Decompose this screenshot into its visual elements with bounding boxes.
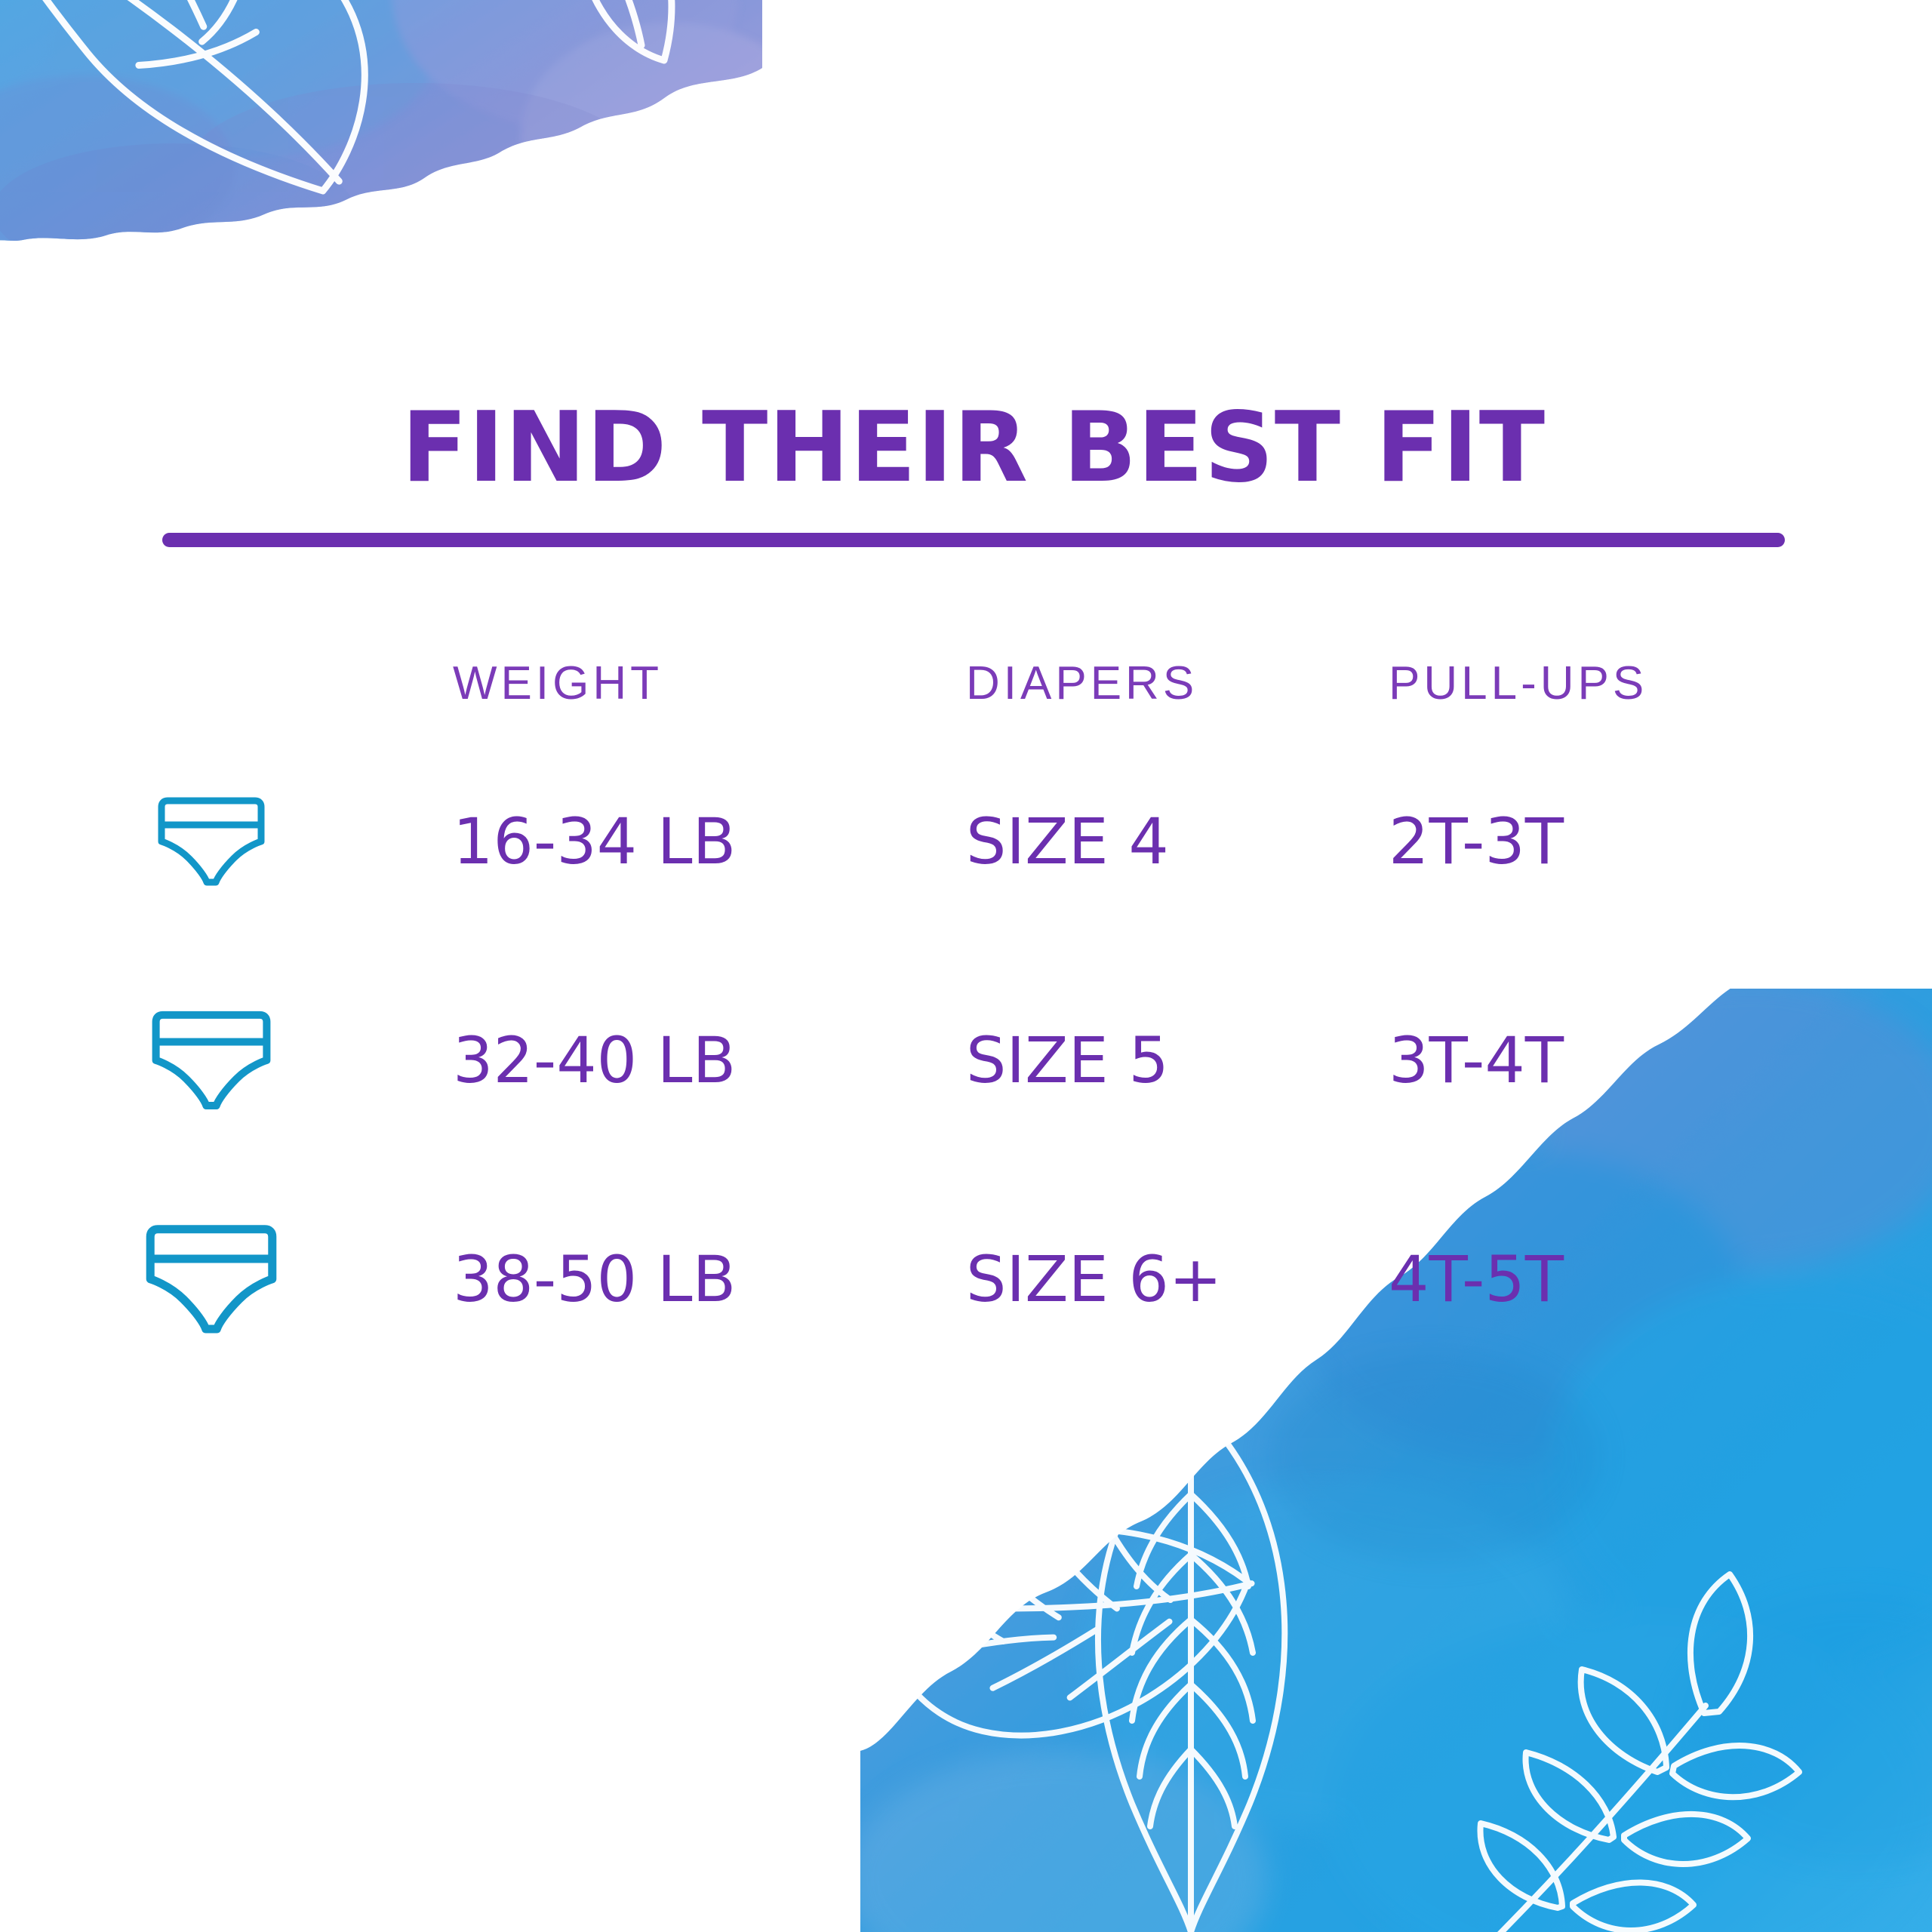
sizing-table: WEIGHT DIAPERS PULL-UPS 16-34 LB	[0, 634, 1932, 1389]
table-row: 16-34 LB SIZE 4 2T-3T	[0, 732, 1932, 951]
page-title: FIND THEIR BEST FIT	[162, 400, 1785, 497]
cell-weight: 32-40 LB	[423, 1023, 951, 1097]
table-row: 38-50 LB SIZE 6+ 4T-5T	[0, 1170, 1932, 1389]
header-cell-pullups: PULL-UPS	[1389, 657, 1872, 710]
cell-pullups: 2T-3T	[1389, 804, 1872, 878]
cell-diapers: SIZE 5	[951, 1023, 1389, 1097]
column-header-diapers: DIAPERS	[951, 657, 1198, 709]
title-divider	[162, 533, 1785, 547]
cell-diapers: SIZE 6+	[951, 1242, 1389, 1316]
weight-value: 38-50 LB	[423, 1242, 736, 1316]
diaper-size-value: SIZE 6+	[951, 1242, 1222, 1316]
sizing-chart-page: FIND THEIR BEST FIT WEIGHT DIAPERS PULL-…	[0, 0, 1932, 1932]
header-cell-diapers: DIAPERS	[951, 657, 1389, 710]
pullup-size-value: 2T-3T	[1389, 804, 1564, 878]
title-block: FIND THEIR BEST FIT	[162, 400, 1785, 547]
cell-pullups: 4T-5T	[1389, 1242, 1872, 1316]
diaper-size-value: SIZE 4	[951, 804, 1169, 878]
table-row: 32-40 LB SIZE 5 3T-4T	[0, 951, 1932, 1170]
underwear-briefs-icon	[144, 1008, 278, 1113]
column-header-pullups: PULL-UPS	[1389, 657, 1647, 709]
weight-value: 32-40 LB	[423, 1023, 736, 1097]
diaper-size-value: SIZE 5	[951, 1023, 1169, 1097]
weight-value: 16-34 LB	[423, 804, 736, 878]
cell-pullups: 3T-4T	[1389, 1023, 1872, 1097]
row-icon-cell	[0, 795, 423, 889]
underwear-briefs-icon	[137, 1222, 285, 1337]
cell-diapers: SIZE 4	[951, 804, 1389, 878]
cell-weight: 38-50 LB	[423, 1242, 951, 1316]
row-icon-cell	[0, 1222, 423, 1337]
pullup-size-value: 3T-4T	[1389, 1023, 1564, 1097]
cell-weight: 16-34 LB	[423, 804, 951, 878]
column-header-weight: WEIGHT	[423, 657, 663, 709]
header-cell-weight: WEIGHT	[423, 657, 951, 710]
row-icon-cell	[0, 1008, 423, 1113]
pullup-size-value: 4T-5T	[1389, 1242, 1564, 1316]
table-header-row: WEIGHT DIAPERS PULL-UPS	[0, 634, 1932, 732]
watercolor-decoration-top-left	[0, 0, 762, 453]
underwear-briefs-icon	[151, 795, 272, 889]
